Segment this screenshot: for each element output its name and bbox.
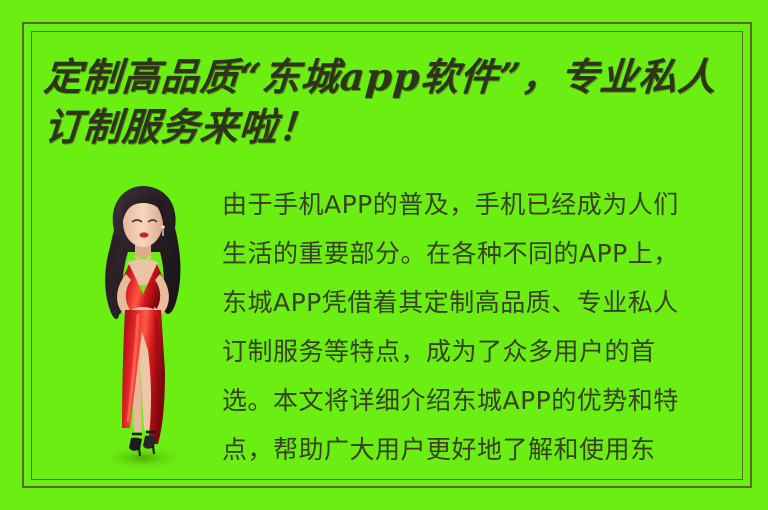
heel-right	[153, 446, 154, 454]
page-title: 定制高品质“东城app软件”，专业私人 订制服务来啦！	[44, 52, 744, 152]
heel-left	[139, 448, 140, 456]
body-line-1: 由于手机APP的普及，手机已经成为人们	[222, 180, 747, 229]
title-line-2: 订制服务来啦！	[42, 102, 745, 152]
promo-banner: 定制高品质“东城app软件”，专业私人 订制服务来啦！	[0, 0, 768, 510]
earring	[161, 225, 165, 229]
body-line-3: 东城APP凭借着其定制高品质、专业私人	[222, 278, 747, 327]
woman-in-red-dress-illustration	[68, 182, 218, 482]
figure-shadow	[97, 445, 189, 471]
body-line-2: 生活的重要部分。在各种不同的APP上，	[222, 229, 747, 278]
title-line-1: 定制高品质“东城app软件”，专业私人	[42, 52, 745, 102]
lips	[140, 232, 149, 237]
body-line-6: 点，帮助广大用户更好地了解和使用东	[222, 425, 747, 474]
body-line-5: 选。本文将详细介绍东城APP的优势和特	[222, 376, 747, 425]
body-paragraph: 由于手机APP的普及，手机已经成为人们 生活的重要部分。在各种不同的APP上， …	[222, 180, 747, 474]
body-line-4: 订制服务等特点，成为了众多用户的首	[222, 327, 747, 376]
